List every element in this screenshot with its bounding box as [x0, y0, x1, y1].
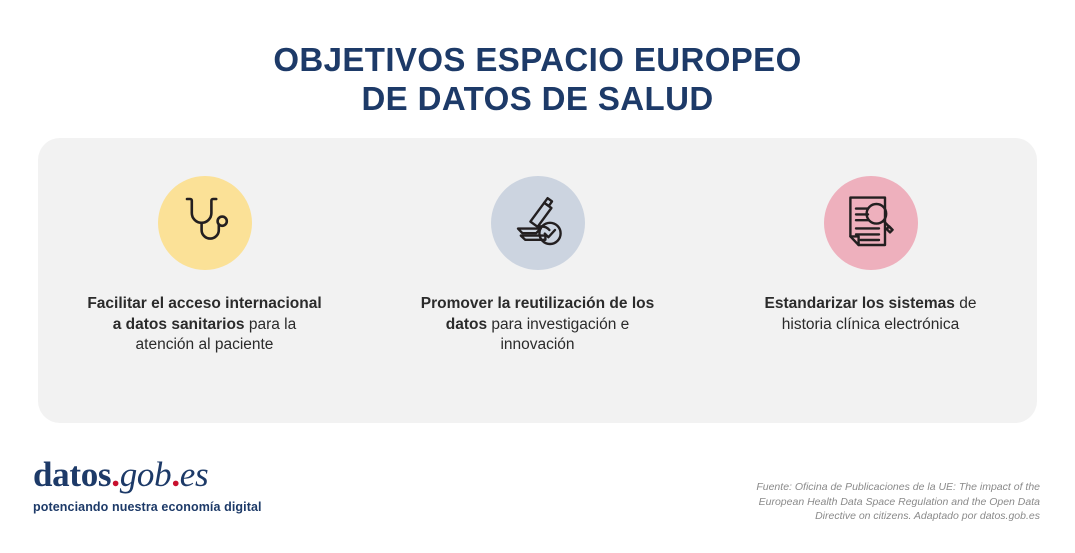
source-citation: Fuente: Oficina de Publicaciones de la U… — [610, 480, 1040, 524]
page-title-line-1: OBJETIVOS ESPACIO EUROPEO — [0, 40, 1075, 79]
logo-word-datos: datos — [33, 455, 111, 494]
page-title: OBJETIVOS ESPACIO EUROPEO DE DATOS DE SA… — [0, 40, 1075, 118]
logo-dot-2: . — [171, 455, 179, 494]
infographic-root: OBJETIVOS ESPACIO EUROPEO DE DATOS DE SA… — [0, 0, 1075, 553]
objective-2-icon-badge — [491, 176, 585, 270]
objectives-card: Facilitar el acceso internacional a dato… — [38, 138, 1037, 423]
source-citation-line-2: European Health Data Space Regulation an… — [610, 495, 1040, 510]
microscope-check-icon — [509, 195, 567, 251]
logo-word-es: es — [180, 455, 209, 494]
objective-1-icon-badge — [158, 176, 252, 270]
objective-1-caption: Facilitar el acceso internacional a dato… — [87, 294, 322, 356]
objective-3-caption: Estandarizar los sistemas de historia cl… — [753, 294, 988, 335]
document-magnifier-icon — [845, 195, 897, 251]
objective-2-caption-regular: para investigación e innovación — [487, 316, 629, 354]
datos-gob-es-logo: datos.gob.es potenciando nuestra economí… — [33, 456, 333, 514]
stethoscope-icon — [178, 195, 232, 251]
objective-column-2: Promover la reutilización de los datos p… — [388, 138, 688, 356]
objective-column-3: Estandarizar los sistemas de historia cl… — [721, 138, 1021, 335]
source-citation-line-1: Fuente: Oficina de Publicaciones de la U… — [610, 480, 1040, 495]
logo-tagline: potenciando nuestra economía digital — [33, 500, 333, 514]
objective-2-caption: Promover la reutilización de los datos p… — [420, 294, 655, 356]
page-title-line-2: DE DATOS DE SALUD — [0, 79, 1075, 118]
logo-dot-1: . — [111, 455, 119, 494]
logo-word-gob: gob — [120, 455, 172, 494]
objective-3-icon-badge — [824, 176, 918, 270]
objective-3-caption-bold: Estandarizar los sistemas — [765, 295, 955, 312]
source-citation-line-3: Directive on citizens. Adaptado por dato… — [610, 509, 1040, 524]
logo-wordmark: datos.gob.es — [33, 456, 333, 494]
objective-column-1: Facilitar el acceso internacional a dato… — [55, 138, 355, 356]
objectives-columns: Facilitar el acceso internacional a dato… — [38, 138, 1037, 423]
